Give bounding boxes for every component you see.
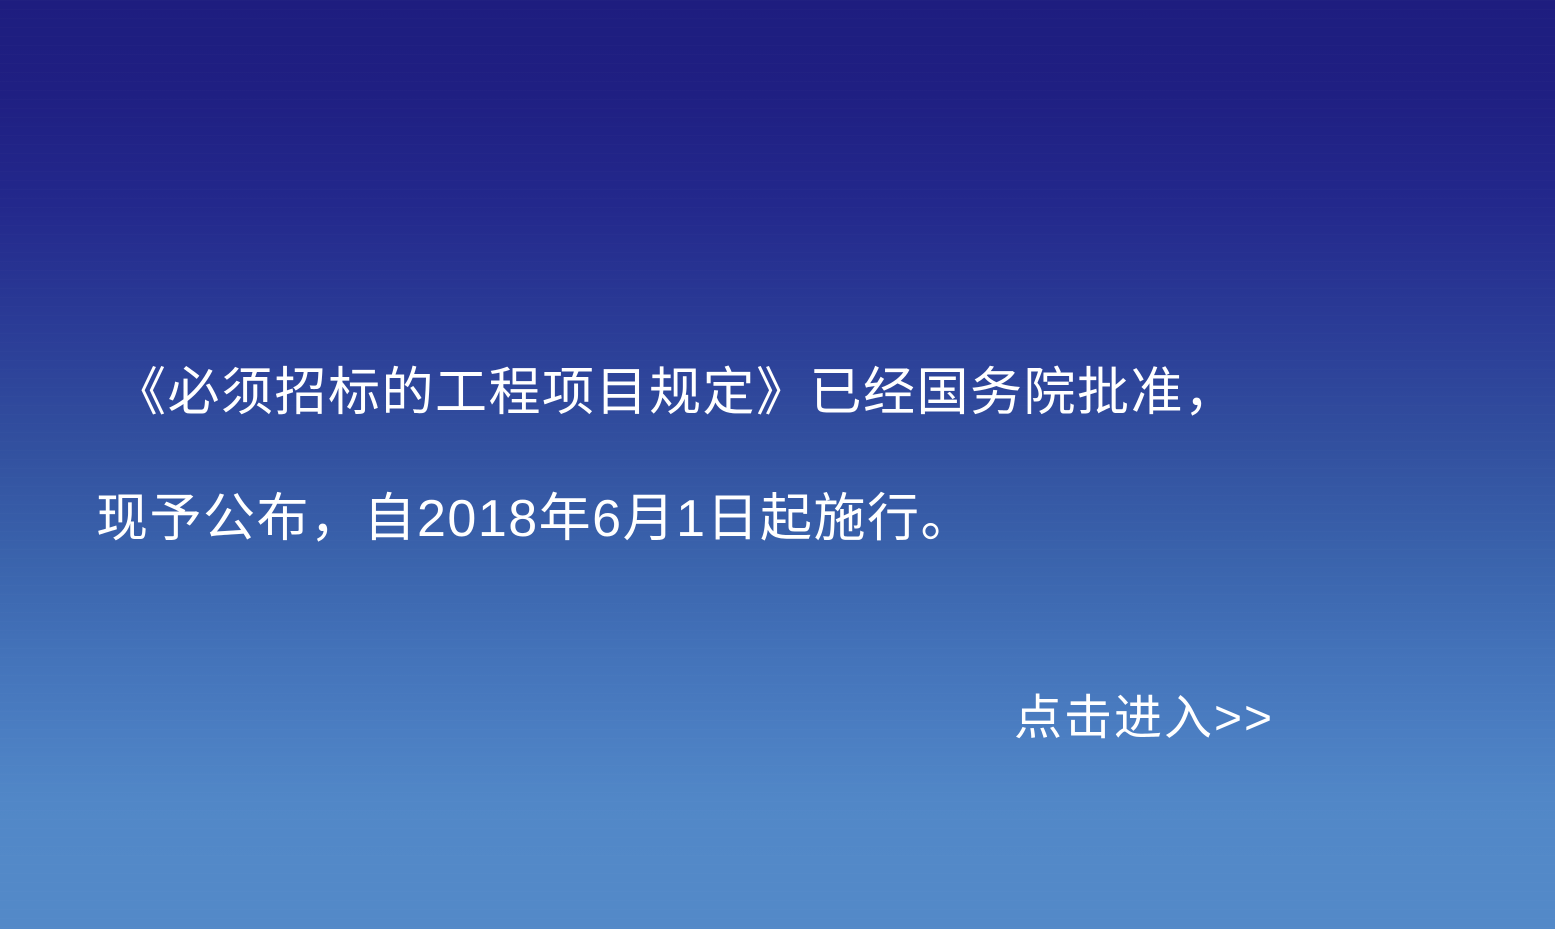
announcement-line-1: 《必须招标的工程项目规定》已经国务院批准， — [96, 330, 1476, 456]
announcement-line-2: 现予公布，自2018年6月1日起施行。 — [96, 456, 1476, 582]
bottom-white-strip — [0, 929, 1555, 933]
promo-banner-slide: 《必须招标的工程项目规定》已经国务院批准， 现予公布，自2018年6月1日起施行… — [0, 0, 1555, 933]
enter-link[interactable]: 点击进入>> — [1014, 683, 1274, 755]
announcement-text-block: 《必须招标的工程项目规定》已经国务院批准， 现予公布，自2018年6月1日起施行… — [96, 330, 1476, 582]
